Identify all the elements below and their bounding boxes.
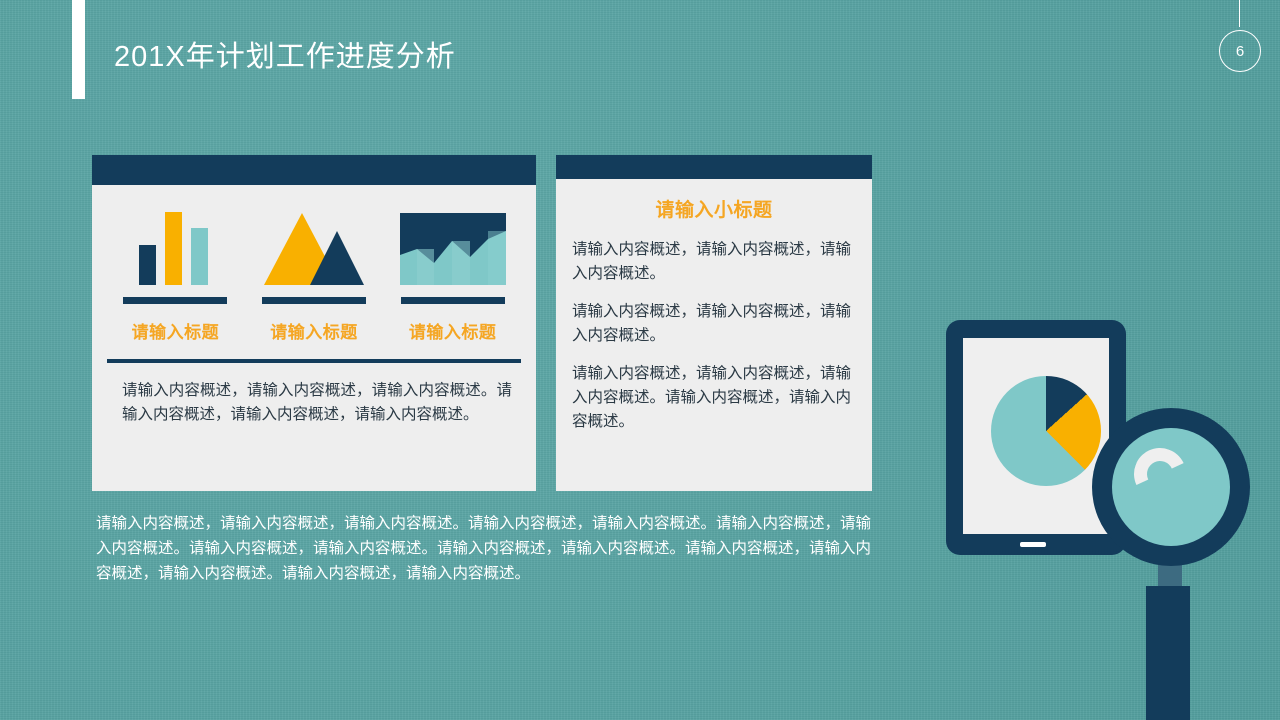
icon-column-area-chart[interactable]: 请输入标题 <box>383 207 522 343</box>
tablet-screen <box>963 338 1109 534</box>
left-content-panel: 请输入标题 请输入标题 <box>92 155 536 491</box>
icon-underline-3 <box>401 297 505 304</box>
title-accent-bar <box>72 0 85 99</box>
bar-segment-1 <box>139 245 156 285</box>
right-content-panel: 请输入小标题 请输入内容概述，请输入内容概述，请输入内容概述。 请输入内容概述，… <box>556 155 872 491</box>
bottom-summary-text: 请输入内容概述，请输入内容概述，请输入内容概述。请输入内容概述，请输入内容概述。… <box>96 511 886 586</box>
area-chart-icon <box>395 207 511 285</box>
area-chart-svg <box>400 213 506 285</box>
slide-canvas: 201X年计划工作进度分析 6 请输入标题 <box>0 0 1280 720</box>
icon-column-mountain-chart[interactable]: 请输入标题 <box>245 207 384 343</box>
icon-caption-3: 请输入标题 <box>409 318 497 343</box>
magnifier-handle <box>1146 586 1190 720</box>
page-title: 201X年计划工作进度分析 <box>114 33 456 75</box>
page-number-badge: 6 <box>1219 30 1261 72</box>
left-panel-body-text: 请输入内容概述，请输入内容概述，请输入内容概述。请输入内容概述，请输入内容概述，… <box>122 379 512 427</box>
tablet-magnifier-illustration <box>930 300 1270 720</box>
icon-underline-1 <box>123 297 227 304</box>
bar-segment-2 <box>165 212 182 285</box>
magnifier-lens <box>1112 428 1230 546</box>
icon-columns-row: 请输入标题 请输入标题 <box>92 185 536 343</box>
mountain-chart-icon <box>256 207 372 285</box>
right-paragraph-1: 请输入内容概述，请输入内容概述，请输入内容概述。 <box>572 238 858 286</box>
lens-highlight-glint <box>1127 441 1194 508</box>
bar-segment-3 <box>191 228 208 285</box>
page-number-connector-line <box>1239 0 1240 27</box>
triangle-small <box>310 231 364 285</box>
left-panel-divider <box>107 359 521 363</box>
icon-column-bar-chart[interactable]: 请输入标题 <box>106 207 245 343</box>
tablet-home-button <box>1020 542 1046 547</box>
right-panel-subtitle: 请输入小标题 <box>556 195 872 222</box>
right-panel-header-bar <box>556 155 872 179</box>
pie-chart-icon <box>991 376 1101 486</box>
bar-chart-icon <box>117 207 233 285</box>
left-panel-header-bar <box>92 155 536 185</box>
icon-underline-2 <box>262 297 366 304</box>
magnifier-icon <box>1092 408 1250 566</box>
right-paragraph-3: 请输入内容概述，请输入内容概述，请输入内容概述。请输入内容概述，请输入内容概述。 <box>572 362 858 434</box>
icon-caption-2: 请输入标题 <box>270 318 358 343</box>
right-panel-body: 请输入内容概述，请输入内容概述，请输入内容概述。 请输入内容概述，请输入内容概述… <box>572 238 858 434</box>
right-paragraph-2: 请输入内容概述，请输入内容概述，请输入内容概述。 <box>572 300 858 348</box>
icon-caption-1: 请输入标题 <box>132 318 220 343</box>
